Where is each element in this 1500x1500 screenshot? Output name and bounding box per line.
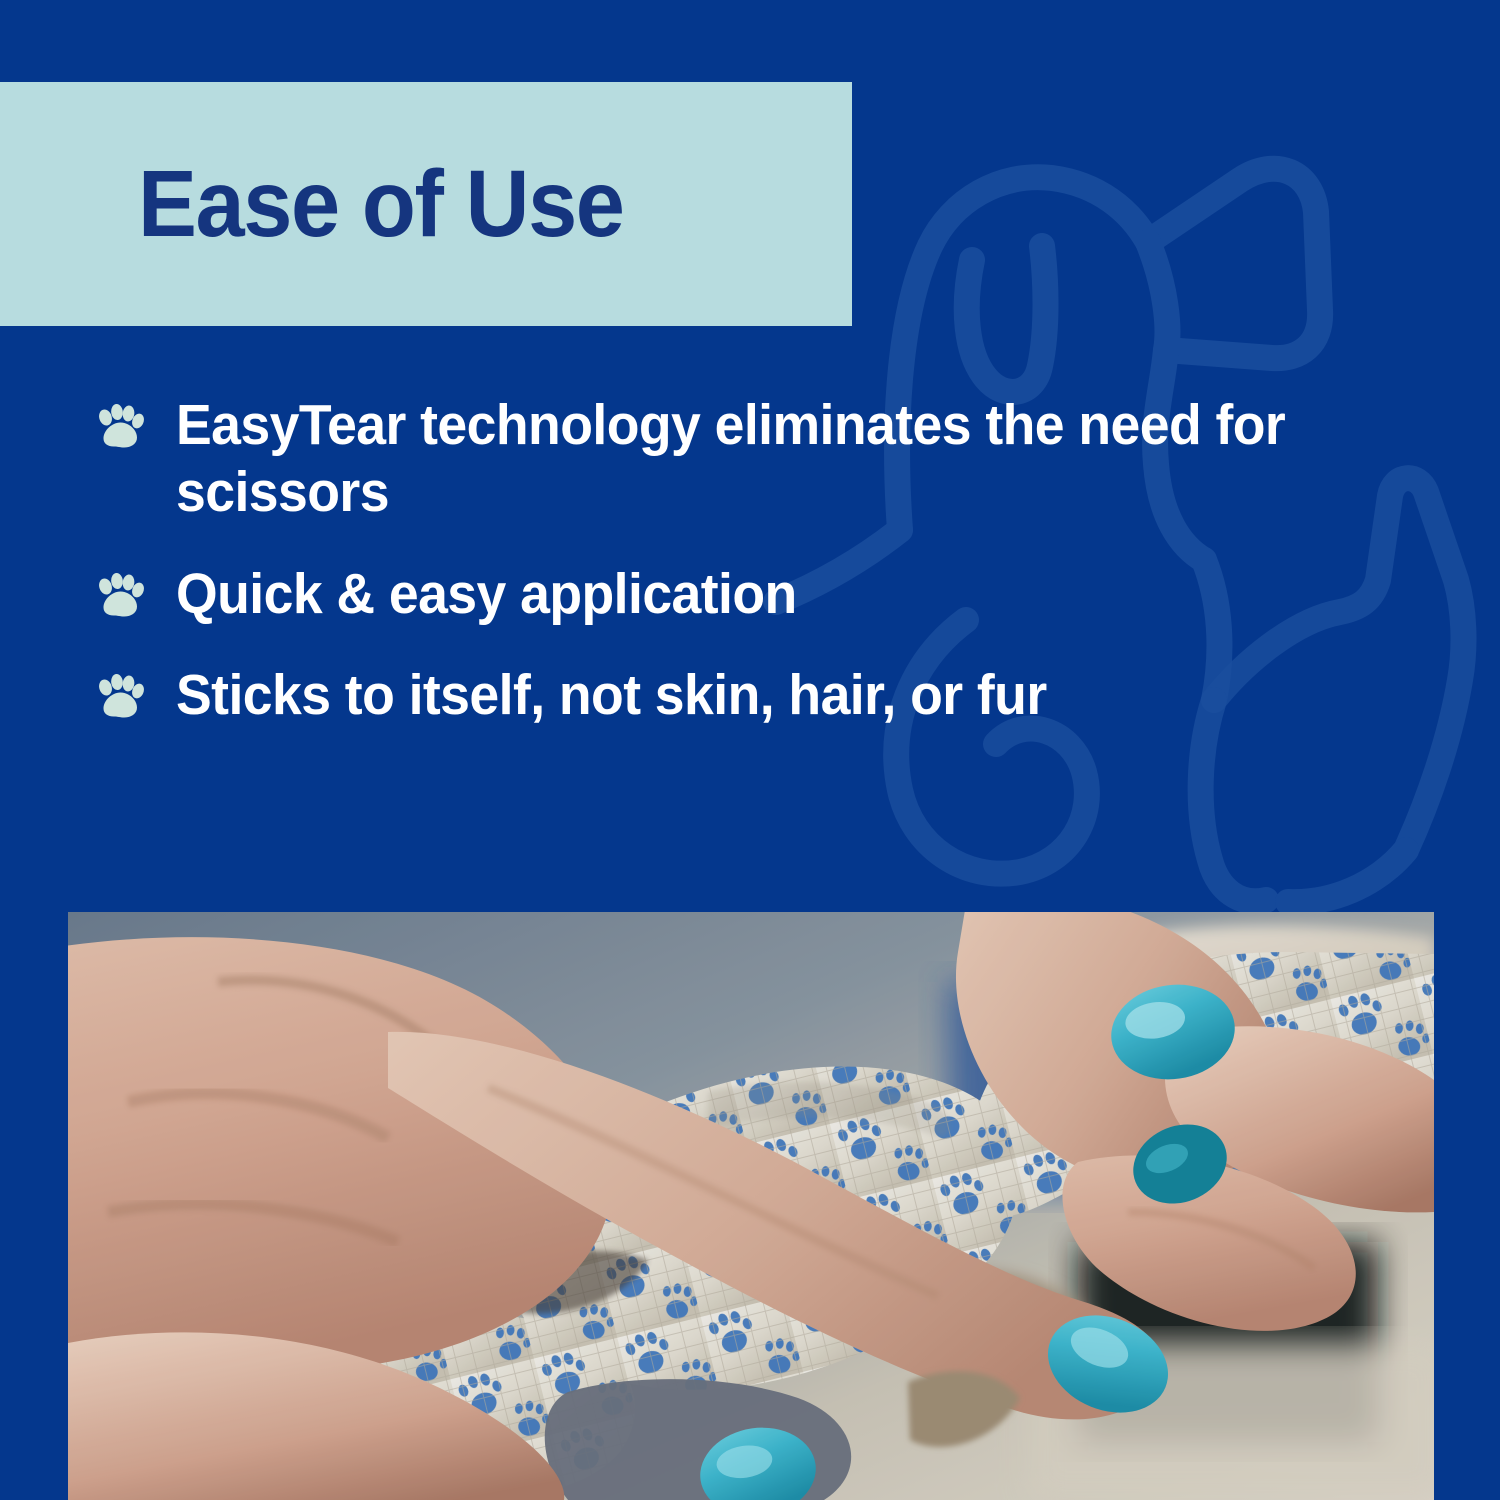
list-item: Sticks to itself, not skin, hair, or fur bbox=[96, 662, 1456, 729]
list-item: Quick & easy application bbox=[96, 561, 1456, 628]
paw-print-icon bbox=[96, 573, 144, 619]
feature-text: Sticks to itself, not skin, hair, or fur bbox=[176, 662, 1047, 729]
title-banner: Ease of Use bbox=[0, 82, 852, 326]
feature-text: Quick & easy application bbox=[176, 561, 797, 628]
page-title: Ease of Use bbox=[138, 157, 624, 252]
list-item: EasyTear technology eliminates the need … bbox=[96, 392, 1456, 527]
feature-list: EasyTear technology eliminates the need … bbox=[96, 392, 1456, 763]
promo-card: Ease of Use EasyTear technology eliminat… bbox=[0, 0, 1500, 1500]
feature-text: EasyTear technology eliminates the need … bbox=[176, 392, 1285, 527]
product-photo bbox=[68, 912, 1434, 1500]
paw-print-icon bbox=[96, 404, 144, 450]
paw-print-icon bbox=[96, 674, 144, 720]
